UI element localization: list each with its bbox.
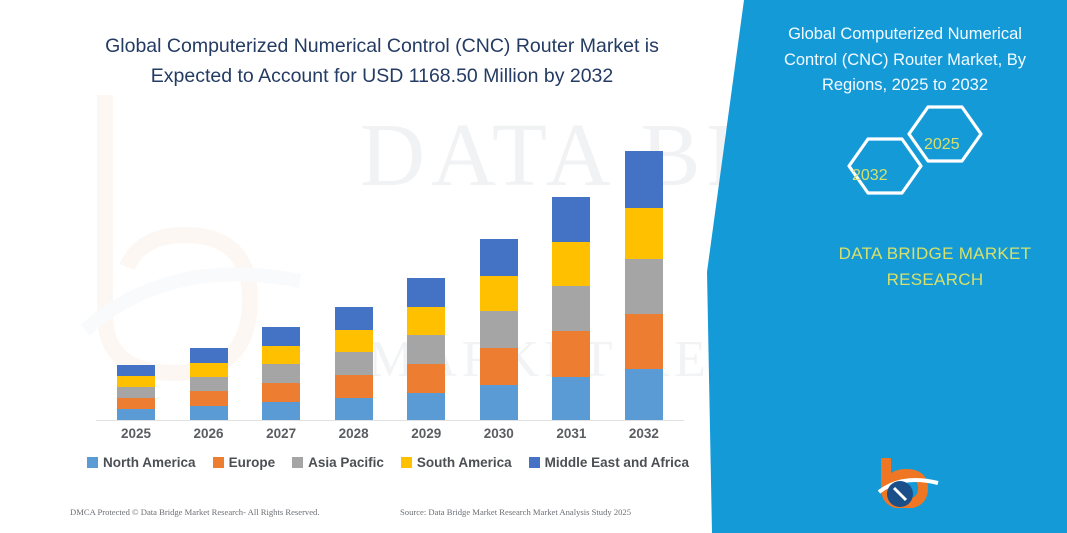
legend-label: Asia Pacific — [308, 455, 384, 470]
footer-copyright: DMCA Protected © Data Bridge Market Rese… — [70, 507, 320, 517]
bar-segment — [552, 242, 590, 286]
bar-segment — [335, 330, 373, 352]
stacked-bar-chart — [100, 130, 680, 420]
bar-segment — [407, 393, 445, 420]
bar-segment — [335, 307, 373, 330]
footer: DMCA Protected © Data Bridge Market Rese… — [0, 507, 710, 527]
hexagon-label-end-year: 2032 — [852, 167, 888, 185]
footer-source: Source: Data Bridge Market Research Mark… — [400, 507, 631, 517]
bar-segment — [190, 363, 228, 377]
bar-group — [245, 130, 317, 420]
bar-segment — [480, 385, 518, 420]
x-axis-tick-label: 2026 — [173, 426, 245, 441]
bar-segment — [262, 364, 300, 383]
stacked-bar — [335, 307, 373, 420]
stacked-bar — [117, 365, 155, 420]
stacked-bar — [190, 348, 228, 420]
bar-segment — [335, 352, 373, 375]
x-axis-tick-label: 2027 — [245, 426, 317, 441]
hexagon-group: 2025 2032 — [820, 103, 1000, 203]
stacked-bar — [407, 278, 445, 420]
legend-swatch-icon — [213, 457, 224, 468]
x-axis-labels: 20252026202720282029203020312032 — [100, 426, 680, 441]
chart-plot-area — [100, 130, 680, 420]
bar-segment — [625, 208, 663, 259]
x-axis-tick-label: 2030 — [463, 426, 535, 441]
bar-segment — [480, 348, 518, 385]
legend-item[interactable]: North America — [87, 455, 196, 470]
bar-segment — [335, 375, 373, 398]
bar-segment — [552, 377, 590, 420]
page-title: Global Computerized Numerical Control (C… — [62, 32, 702, 91]
bar-segment — [552, 197, 590, 242]
stacked-bar — [552, 197, 590, 420]
bar-segment — [190, 377, 228, 391]
bar-group — [535, 130, 607, 420]
stacked-bar — [625, 151, 663, 420]
bar-segment — [407, 307, 445, 335]
legend-item[interactable]: Asia Pacific — [292, 455, 384, 470]
bar-group — [100, 130, 172, 420]
bar-group — [608, 130, 680, 420]
bar-segment — [262, 383, 300, 402]
bar-segment — [480, 311, 518, 348]
bar-segment — [480, 276, 518, 311]
bar-segment — [552, 331, 590, 377]
company-logo: DATA BRIDGE MARKET RESEARCH — [878, 458, 1067, 513]
bar-segment — [190, 391, 228, 406]
legend-swatch-icon — [529, 457, 540, 468]
brand-name: DATA BRIDGE MARKET RESEARCH — [800, 241, 1067, 292]
hexagon-label-start-year: 2025 — [924, 136, 960, 154]
x-axis-tick-label: 2031 — [535, 426, 607, 441]
bar-segment — [117, 409, 155, 420]
bar-segment — [407, 335, 445, 364]
bar-segment — [407, 278, 445, 307]
stacked-bar — [262, 327, 300, 420]
legend-item[interactable]: Middle East and Africa — [529, 455, 689, 470]
bar-segment — [625, 151, 663, 208]
bar-segment — [262, 402, 300, 420]
bar-segment — [625, 314, 663, 369]
infographic-canvas: DATA BRIDGE MARKET RESEARCH Global Compu… — [0, 0, 1067, 533]
bar-group — [318, 130, 390, 420]
left-chart-panel: DATA BRIDGE MARKET RESEARCH Global Compu… — [0, 0, 760, 533]
legend-label: Europe — [229, 455, 276, 470]
x-axis-line — [96, 420, 684, 421]
bar-segment — [117, 365, 155, 376]
bar-segment — [407, 364, 445, 393]
bar-segment — [625, 259, 663, 314]
legend-swatch-icon — [401, 457, 412, 468]
bar-segment — [190, 348, 228, 363]
bar-group — [390, 130, 462, 420]
bar-segment — [117, 376, 155, 387]
data-bridge-b-logo-icon — [878, 458, 944, 508]
bar-segment — [335, 398, 373, 420]
bar-segment — [117, 398, 155, 409]
x-axis-tick-label: 2028 — [318, 426, 390, 441]
x-axis-tick-label: 2025 — [100, 426, 172, 441]
bar-group — [173, 130, 245, 420]
legend-label: Middle East and Africa — [545, 455, 689, 470]
bar-segment — [552, 286, 590, 331]
hexagon-outlines-icon — [820, 103, 1000, 203]
legend-label: North America — [103, 455, 196, 470]
legend-swatch-icon — [292, 457, 303, 468]
bar-segment — [480, 239, 518, 276]
right-panel-title: Global Computerized Numerical Control (C… — [760, 22, 1050, 99]
stacked-bar — [480, 239, 518, 420]
x-axis-tick-label: 2032 — [608, 426, 680, 441]
bar-segment — [262, 346, 300, 364]
bar-segment — [117, 387, 155, 398]
legend-swatch-icon — [87, 457, 98, 468]
legend-item[interactable]: Europe — [213, 455, 276, 470]
legend-item[interactable]: South America — [401, 455, 512, 470]
legend-label: South America — [417, 455, 512, 470]
bar-segment — [625, 369, 663, 420]
bar-segment — [262, 327, 300, 346]
bar-segment — [190, 406, 228, 420]
chart-legend: North AmericaEuropeAsia PacificSouth Ame… — [88, 455, 688, 470]
bar-group — [463, 130, 535, 420]
x-axis-tick-label: 2029 — [390, 426, 462, 441]
